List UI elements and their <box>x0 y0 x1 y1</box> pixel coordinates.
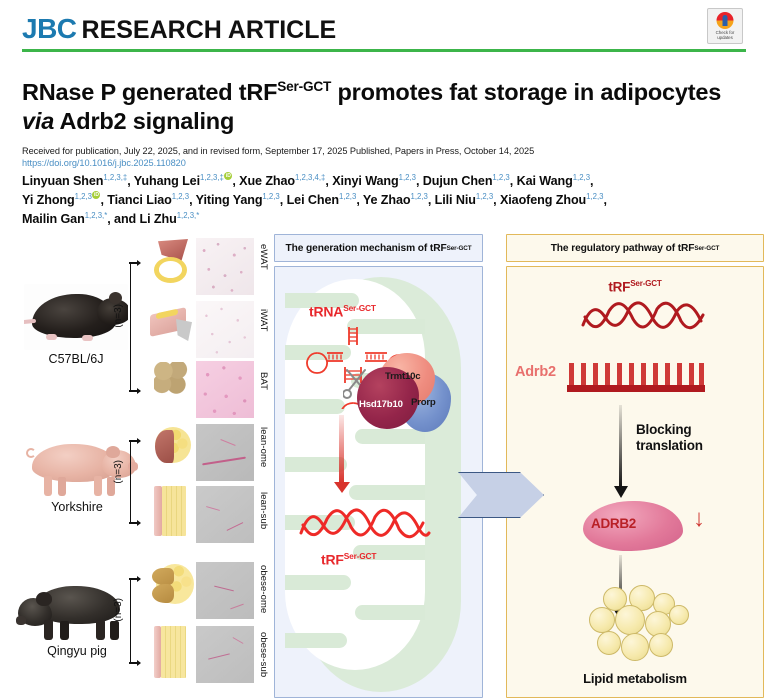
author-line-2: Yi Zhong1,2,3, Tianci Liao1,2,3, Yiting … <box>22 191 737 210</box>
processing-arrow-icon <box>339 415 344 483</box>
mrna-tick-icon <box>665 363 670 385</box>
trna-label-sup: Ser-GCT <box>343 303 376 313</box>
panel-header-regulatory-text: The regulatory pathway of tRF <box>551 243 695 254</box>
author-name: Linyuan Shen <box>22 174 103 188</box>
trf-label-regulatory: tRFSer-GCT <box>507 279 763 295</box>
trf-right-label-sup: Ser-GCT <box>630 279 661 288</box>
subcutaneous-fat-icon <box>154 626 194 678</box>
sample-size-qingyu: (n=3) <box>113 598 124 622</box>
panel-regulatory-pathway: tRFSer-GCT Adrb2 <box>506 266 764 698</box>
tissue-label-lean-sub: lean-sub <box>258 492 269 529</box>
mrna-tick-icon <box>617 363 622 385</box>
histology-obese-sub <box>196 626 254 683</box>
title-segment-2: promotes fat storage in adipocytes <box>331 79 721 105</box>
blocking-line-2: translation <box>636 438 703 454</box>
brown-fat-icon <box>152 360 194 402</box>
mouse-foot-icon <box>82 335 93 341</box>
author-affiliation-superscript: 1,2,3 <box>492 173 509 182</box>
title-block: RNase P generated tRFSer-GCT promotes fa… <box>22 78 722 168</box>
omental-fat-icon <box>152 424 194 468</box>
group-bracket-yorkshire <box>130 440 140 524</box>
crista-icon <box>355 429 425 444</box>
mrna-tick-icon <box>569 363 574 385</box>
author-name: Yuhang Lei <box>134 174 200 188</box>
histology-lean-sub <box>196 486 254 543</box>
graphical-abstract: C57BL/6J (n=3) eWAT <box>0 232 768 700</box>
author-affiliation-superscript: 1,2,3,* <box>85 211 108 220</box>
pig-leg-icon <box>58 477 66 496</box>
doi-link[interactable]: https://doi.org/10.1016/j.jbc.2025.11082… <box>22 158 722 168</box>
epididymal-fat-icon <box>150 239 192 287</box>
title-segment-1: RNase P generated tRF <box>22 79 277 105</box>
protein-label-prorp: Prorp <box>411 397 436 408</box>
journal-abbrev: JBC <box>22 13 77 44</box>
author-affiliation-superscript: 1,2,3 <box>75 192 92 201</box>
bracket-arrow-down-icon <box>137 660 141 666</box>
author-affiliation-superscript: 1,2,3,* <box>177 211 200 220</box>
histology-ewat <box>196 238 254 295</box>
orcid-id-icon[interactable] <box>92 191 100 199</box>
droplet <box>589 607 615 633</box>
blocking-translation-label: Blocking translation <box>636 422 703 455</box>
author-name: Lei Chen <box>287 193 339 207</box>
pig-ear-icon <box>106 446 120 458</box>
mrna-tick-icon <box>641 363 646 385</box>
inguinal-fat-icon <box>150 303 194 345</box>
trf-label-text: tRF <box>321 552 344 568</box>
author-list: Linyuan Shen1,2,3,‡, Yuhang Lei1,2,3,‡, … <box>22 172 737 229</box>
author-name: and Li Zhu <box>114 212 177 226</box>
droplet <box>597 631 621 655</box>
crista-icon <box>285 575 351 590</box>
adrb2-mrna-label: Adrb2 <box>515 364 556 380</box>
author-name: Xinyi Wang <box>332 174 398 188</box>
author-affiliation-superscript: 1,2,3 <box>172 192 189 201</box>
pig-leg-icon <box>96 620 105 640</box>
crista-icon <box>285 457 347 472</box>
journal-logo: JBCRESEARCH ARTICLE <box>22 15 336 43</box>
panel-header-regulatory-sup: Ser-GCT <box>694 245 719 252</box>
animal-label-qingyu: Qingyu pig <box>14 644 140 658</box>
down-arrow-icon: ↓ <box>693 507 705 531</box>
blocking-line-1: Blocking <box>636 422 703 438</box>
author-affiliation-superscript: 1,2,3,‡ <box>103 173 127 182</box>
crossmark-label: Check for updates <box>708 30 742 40</box>
droplet <box>621 633 649 661</box>
pig-leg-icon <box>44 476 52 496</box>
author-name: Xue Zhao <box>239 174 295 188</box>
trna-label: tRNASer-GCT <box>309 303 376 320</box>
mrna-tick-icon <box>593 363 598 385</box>
title-segment-3: Adrb2 signaling <box>54 108 234 134</box>
bracket-arrow-up-icon <box>137 576 141 582</box>
author-line-1: Linyuan Shen1,2,3,‡, Yuhang Lei1,2,3,‡, … <box>22 172 737 191</box>
author-affiliation-superscript: 1,2,3 <box>476 192 493 201</box>
author-name: Lili Niu <box>435 193 476 207</box>
author-name: Xiaofeng Zhou <box>500 193 586 207</box>
orcid-id-icon[interactable] <box>224 172 232 180</box>
crista-icon <box>349 485 425 500</box>
author-affiliation-superscript: 1,2,3 <box>399 173 416 182</box>
animal-group-mouse: C57BL/6J (n=3) eWAT <box>0 232 272 432</box>
group-bracket-qingyu <box>130 578 140 664</box>
author-name: Yiting Yang <box>196 193 263 207</box>
crista-icon <box>355 605 425 620</box>
trf-label-sup: Ser-GCT <box>344 551 377 561</box>
tissue-label-obese-sub: obese-sub <box>258 632 269 677</box>
pig-leg-icon <box>110 621 119 640</box>
sample-size-mouse: (n=3) <box>113 304 124 328</box>
droplet <box>669 605 689 625</box>
crossmark-line2: updates <box>708 35 742 40</box>
author-affiliation-superscript: 1,2,3 <box>410 192 427 201</box>
author-name: Dujun Chen <box>423 174 493 188</box>
mouse-foot-icon <box>46 334 57 340</box>
page-title: RNase P generated tRFSer-GCT promotes fa… <box>22 78 722 136</box>
subcutaneous-fat-icon <box>154 486 194 536</box>
author-affiliation-superscript: 1,2,3 <box>262 192 279 201</box>
adrb2-protein-label: ADRB2 <box>591 516 636 531</box>
animal-group-yorkshire: Yorkshire (n=3) lean-ome <box>0 428 272 564</box>
mrna-tick-icon <box>605 363 610 385</box>
droplet <box>649 633 673 657</box>
trf-squiggle-icon <box>297 503 433 549</box>
tissue-label-ewat: eWAT <box>258 244 269 270</box>
trf-label-generation: tRFSer-GCT <box>321 551 376 568</box>
crossmark-icon <box>717 12 734 29</box>
journal-header: JBCRESEARCH ARTICLE Check for updates <box>0 0 768 58</box>
protein-label-trmt10c: Trmt10c <box>385 371 420 382</box>
author-name: Mailin Gan <box>22 212 85 226</box>
tissue-label-iwat: iWAT <box>258 309 269 332</box>
crista-icon <box>285 633 347 648</box>
tissue-label-bat: BAT <box>258 372 269 390</box>
pig-leg-icon <box>60 621 69 640</box>
omental-fat-icon <box>152 562 196 608</box>
group-bracket-mouse <box>130 262 140 392</box>
pig-tail-icon <box>26 448 36 458</box>
bracket-arrow-up-icon <box>137 260 141 266</box>
sample-collection-column: C57BL/6J (n=3) eWAT <box>0 232 272 700</box>
bracket-arrow-down-icon <box>137 388 141 394</box>
panel-header-regulatory: The regulatory pathway of tRFSer-GCT <box>506 234 764 262</box>
pig-ear-icon <box>36 592 52 606</box>
mrna-tick-icon <box>699 363 704 385</box>
author-name: Ye Zhao <box>363 193 411 207</box>
protein-label-hsd17b10: Hsd17b10 <box>359 399 403 410</box>
author-affiliation-superscript: 1,2,3 <box>339 192 356 201</box>
histology-lean-ome <box>196 424 254 481</box>
animal-label-mouse: C57BL/6J <box>24 352 128 366</box>
bracket-arrow-up-icon <box>137 438 141 444</box>
lipid-droplets-icon <box>585 585 693 665</box>
mouse-ear-icon <box>109 292 122 304</box>
animal-group-qingyu: Qingyu pig (n=3) obese-ome <box>0 562 272 700</box>
pig-leg-icon <box>44 620 53 640</box>
author-affiliation-superscript: 1,2,3,4,‡ <box>295 173 325 182</box>
trf-squiggle-icon <box>579 297 709 341</box>
blocking-translation-arrow-icon <box>619 405 622 487</box>
adrb2-mrna-bar <box>567 385 705 392</box>
sample-size-yorkshire: (n=3) <box>113 460 124 484</box>
author-name: Tianci Liao <box>107 193 171 207</box>
trna-label-text: tRNA <box>309 304 343 320</box>
tissue-label-obese-ome: obese-ome <box>258 565 269 613</box>
panel-generation-mechanism: tRNASer-GCT <box>274 266 483 698</box>
crossmark-badge[interactable]: Check for updates <box>707 8 743 44</box>
mrna-tick-icon <box>689 363 694 385</box>
author-name: Yi Zhong <box>22 193 75 207</box>
tissue-label-lean-ome: lean-ome <box>258 427 269 467</box>
page-root: JBCRESEARCH ARTICLE Check for updates RN… <box>0 0 768 700</box>
trf-right-label-text: tRF <box>608 280 630 295</box>
author-line-3: Mailin Gan1,2,3,*, and Li Zhu1,2,3,* <box>22 210 737 229</box>
author-affiliation-superscript: 1,2,3 <box>586 192 603 201</box>
panel-header-generation: The generation mechanism of tRFSer-GCT <box>274 234 483 262</box>
author-affiliation-superscript: 1,2,3 <box>573 173 590 182</box>
pig-snout-icon <box>16 616 26 625</box>
author-name: Kai Wang <box>517 174 573 188</box>
article-type-label: RESEARCH ARTICLE <box>82 16 337 44</box>
publication-dates: Received for publication, July 22, 2025,… <box>22 145 722 157</box>
histology-obese-ome <box>196 562 254 619</box>
mrna-tick-icon <box>653 363 658 385</box>
bracket-arrow-down-icon <box>137 520 141 526</box>
title-superscript-1: Ser-GCT <box>277 79 331 94</box>
lipid-metabolism-label: Lipid metabolism <box>507 671 763 686</box>
panel-header-generation-text: The generation mechanism of tRF <box>286 243 447 254</box>
pig-leg-icon <box>94 476 102 496</box>
mrna-tick-icon <box>581 363 586 385</box>
header-divider <box>22 49 746 52</box>
droplet <box>615 605 645 635</box>
author-affiliation-superscript: 1,2,3,‡ <box>200 173 224 182</box>
panel-header-generation-sup: Ser-GCT <box>447 245 472 252</box>
animal-label-yorkshire: Yorkshire <box>14 500 140 514</box>
title-italic-via: via <box>22 108 54 134</box>
histology-bat <box>196 361 254 418</box>
mrna-tick-icon <box>677 363 682 385</box>
mrna-tick-icon <box>629 363 634 385</box>
histology-iwat <box>196 301 254 358</box>
